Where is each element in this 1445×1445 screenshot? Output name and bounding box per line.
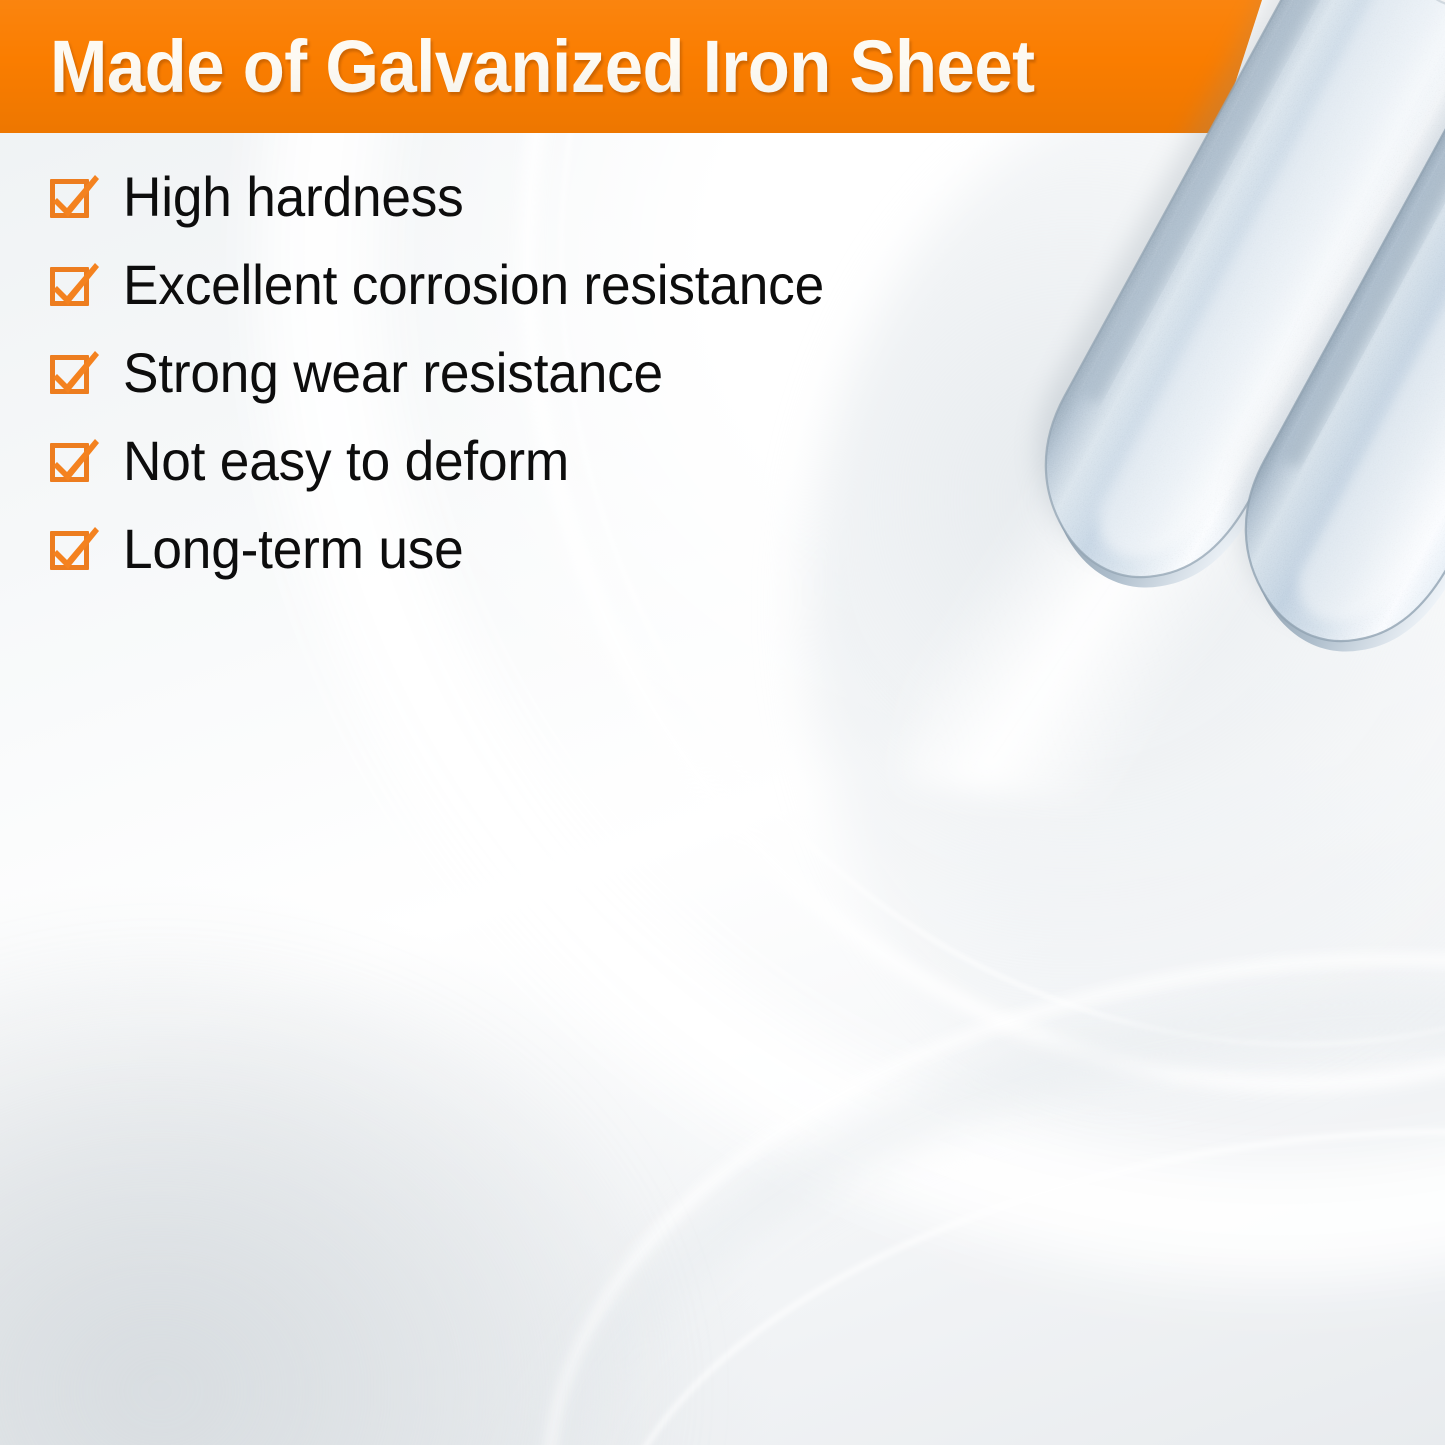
checkmark-icon: [51, 262, 99, 306]
feature-list: High hardness Excellent corrosion resist…: [46, 154, 1146, 594]
feature-item: Excellent corrosion resistance: [46, 242, 1146, 330]
feature-label: Excellent corrosion resistance: [123, 257, 824, 313]
checkmark-icon: [51, 174, 99, 218]
checkmark-icon: [51, 350, 99, 394]
feature-label: Not easy to deform: [123, 433, 569, 489]
feature-label: Long-term use: [123, 521, 464, 577]
feature-label: High hardness: [123, 169, 464, 225]
feature-item: Not easy to deform: [46, 418, 1146, 506]
feature-item: Long-term use: [46, 506, 1146, 594]
checked-checkbox-icon: [46, 524, 98, 576]
checked-checkbox-icon: [46, 260, 98, 312]
checkmark-icon: [51, 438, 99, 482]
feature-label: Strong wear resistance: [123, 345, 663, 401]
page-title-text: Made of Galvanized Iron Sheet: [50, 30, 1035, 104]
checkmark-icon: [51, 526, 99, 570]
page-title: Made of Galvanized Iron Sheet: [50, 30, 1109, 104]
background-vignette-bottom-left: [0, 935, 700, 1445]
checked-checkbox-icon: [46, 172, 98, 224]
feature-item: High hardness: [46, 154, 1146, 242]
checked-checkbox-icon: [46, 436, 98, 488]
header-banner: Made of Galvanized Iron Sheet: [0, 0, 1262, 133]
infographic-page: Made of Galvanized Iron Sheet High hardn…: [0, 0, 1445, 1445]
feature-item: Strong wear resistance: [46, 330, 1146, 418]
checked-checkbox-icon: [46, 348, 98, 400]
